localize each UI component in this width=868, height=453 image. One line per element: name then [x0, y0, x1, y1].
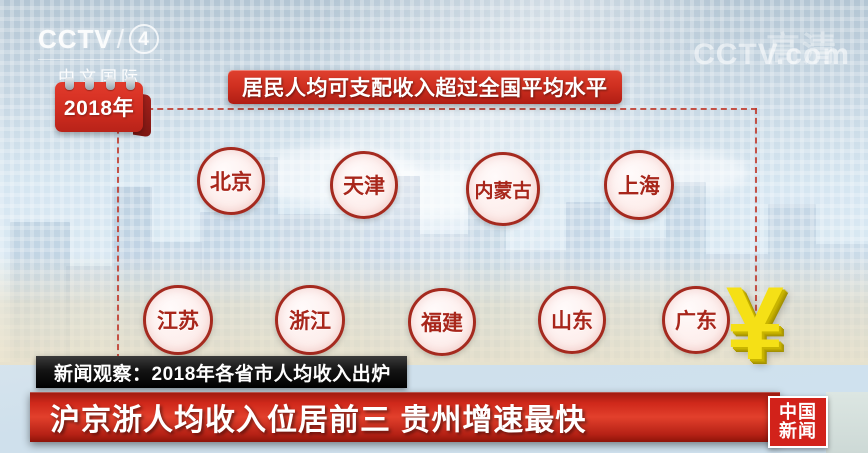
province-label: 江苏 — [157, 305, 199, 335]
year-label: 2018年 — [64, 92, 134, 122]
province-label: 福建 — [421, 307, 463, 337]
right-edge-panel — [826, 392, 868, 453]
dashed-line-top — [117, 108, 757, 110]
calendar-ring — [85, 77, 94, 90]
program-badge-line1: 中国 — [779, 403, 817, 422]
news-headline-bar: 沪京浙人均收入位居前三 贵州增速最快 — [30, 392, 780, 442]
infographic-title-text: 居民人均可支配收入超过全国平均水平 — [242, 72, 608, 102]
province-bubble-fujian[interactable]: 福建 — [408, 288, 476, 356]
province-label: 浙江 — [289, 305, 331, 335]
dashed-line-left — [117, 108, 119, 360]
province-label: 山东 — [551, 305, 593, 335]
calendar-ring — [65, 77, 74, 90]
calendar-ring — [106, 77, 115, 90]
news-headline-text: 沪京浙人均收入位居前三 贵州增速最快 — [50, 395, 586, 439]
province-bubble-shandong[interactable]: 山东 — [538, 286, 606, 354]
cctv-text: CCTV — [38, 26, 113, 52]
province-label: 天津 — [343, 170, 385, 200]
program-badge-line2: 新闻 — [779, 422, 817, 441]
province-bubble-zhejiang[interactable]: 浙江 — [275, 285, 345, 355]
province-label: 内蒙古 — [474, 176, 531, 203]
cctv-com-watermark: CCTV.com — [693, 38, 850, 72]
cctv-wordmark: CCTV / 4 — [38, 24, 162, 54]
province-label: 北京 — [210, 166, 252, 196]
broadcast-screen: CCTV / 4 中文国际 高清 CCTV.com 2018年 居民人均可支配收… — [0, 0, 868, 453]
calendar-rings — [65, 77, 135, 90]
program-badge: 中国 新闻 — [768, 396, 828, 448]
province-bubble-jiangsu[interactable]: 江苏 — [143, 285, 213, 355]
infographic-title-banner: 居民人均可支配收入超过全国平均水平 — [228, 70, 622, 104]
province-bubble-beijing[interactable]: 北京 — [197, 147, 265, 215]
province-bubble-guangdong[interactable]: 广东 — [662, 286, 730, 354]
channel-number: 4 — [129, 24, 159, 54]
province-label: 广东 — [675, 305, 717, 335]
news-subtitle-text: 新闻观察：2018年各省市人均收入出炉 — [54, 359, 391, 386]
province-label: 上海 — [618, 170, 660, 200]
yuan-currency-icon: ¥ — [726, 278, 784, 372]
calendar-ring — [126, 77, 135, 90]
logo-slash: / — [117, 26, 125, 52]
province-bubble-shanghai[interactable]: 上海 — [604, 150, 674, 220]
year-calendar-tag: 2018年 — [55, 82, 147, 134]
province-bubble-tianjin[interactable]: 天津 — [330, 151, 398, 219]
province-bubble-inner-mongolia[interactable]: 内蒙古 — [466, 152, 540, 226]
news-subtitle-bar: 新闻观察：2018年各省市人均收入出炉 — [36, 356, 407, 388]
